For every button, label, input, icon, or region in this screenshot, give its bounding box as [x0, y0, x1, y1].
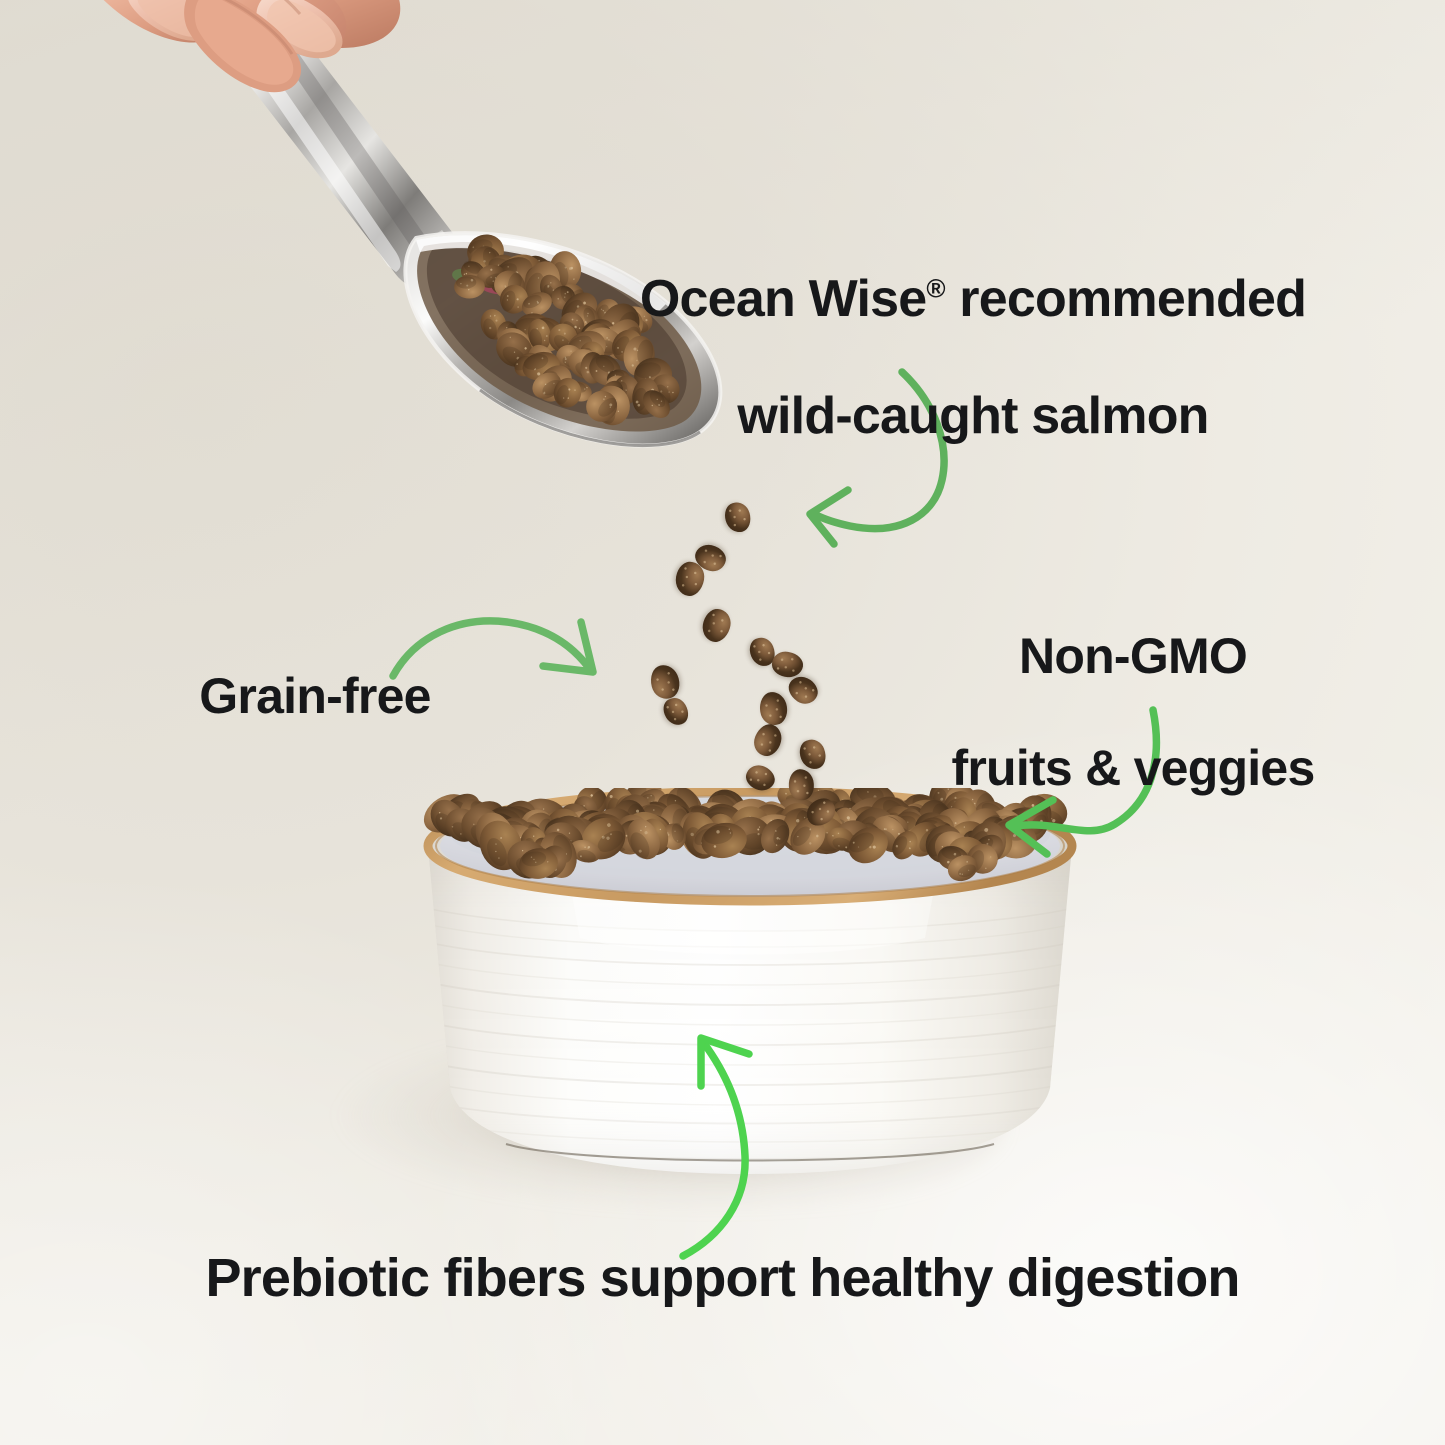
- callout-non-gmo-line2-text: fruits & veggies: [951, 740, 1314, 796]
- kibble-piece: [659, 694, 693, 730]
- kibble-piece: [796, 736, 830, 773]
- callout-prebiotic-label: Prebiotic fibers support healthy digesti…: [100, 1248, 1345, 1308]
- registered-trademark-icon: ®: [926, 274, 945, 304]
- kibble-speckles: [770, 650, 805, 680]
- callout-salmon-line2-text: wild-caught salmon: [737, 387, 1208, 445]
- kibble-speckles: [647, 662, 682, 702]
- callout-salmon-line1-rest: recommended: [946, 270, 1307, 328]
- hand: [68, 0, 401, 92]
- ceramic-dog-bowl: [420, 788, 1080, 1198]
- callout-salmon-label: Ocean Wise® recommended wild-caught salm…: [553, 212, 1393, 445]
- kibble-speckles: [758, 690, 789, 726]
- kibble-piece: [770, 650, 805, 680]
- kibble-piece: [647, 662, 682, 702]
- kibble-speckles: [659, 694, 693, 730]
- kibble-piece: [699, 606, 735, 645]
- product-feature-image: Ocean Wise® recommended wild-caught salm…: [0, 0, 1445, 1445]
- callout-grain-free-label: Grain-free: [140, 668, 490, 724]
- kibble-speckles: [750, 720, 786, 759]
- kibble-piece: [758, 690, 789, 726]
- callout-non-gmo-line1-text: Non-GMO: [1019, 628, 1247, 684]
- callout-non-gmo-label: Non-GMO fruits & veggies: [893, 572, 1373, 796]
- kibble-piece: [750, 720, 786, 759]
- kibble-speckles: [699, 606, 735, 645]
- callout-salmon-line1-text: Ocean Wise: [640, 270, 927, 328]
- kibble-speckles: [796, 736, 830, 773]
